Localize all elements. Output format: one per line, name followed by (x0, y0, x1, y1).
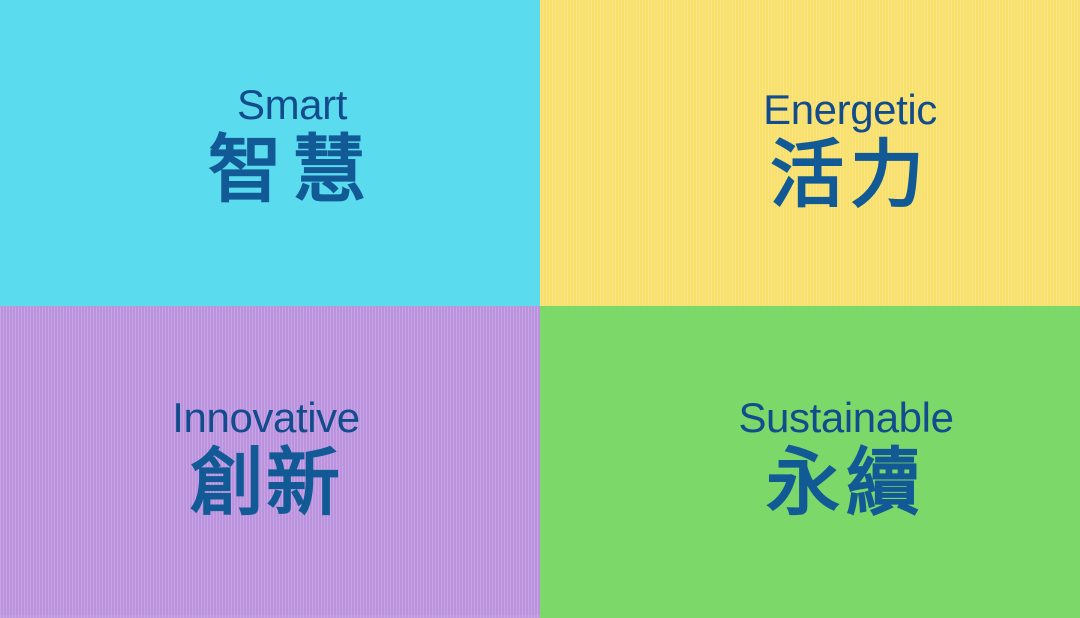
quadrant-energetic[interactable]: Energetic 活力 (540, 0, 1080, 306)
quadrant-innovative[interactable]: Innovative 創新 (0, 306, 540, 618)
label-stack-innovative: Innovative 創新 (172, 395, 359, 525)
label-english-sustainable: Sustainable (738, 395, 953, 440)
label-chinese-energetic: 活力 (770, 134, 930, 217)
label-chinese-smart: 智慧 (208, 129, 376, 212)
label-english-innovative: Innovative (172, 395, 359, 440)
brand-values-canvas: Smart 智慧 Energetic 活力 Innovative 創新 Sust… (0, 0, 1080, 618)
label-stack-smart: Smart 智慧 (208, 82, 376, 212)
label-english-energetic: Energetic (763, 87, 937, 132)
label-chinese-innovative: 創新 (190, 442, 342, 525)
label-english-smart: Smart (237, 82, 347, 127)
quadrant-grid: Smart 智慧 Energetic 活力 Innovative 創新 Sust… (0, 0, 1080, 618)
quadrant-smart[interactable]: Smart 智慧 (0, 0, 540, 306)
label-stack-sustainable: Sustainable 永續 (738, 395, 953, 525)
label-stack-energetic: Energetic 活力 (763, 87, 937, 217)
label-chinese-sustainable: 永續 (766, 442, 926, 525)
quadrant-sustainable[interactable]: Sustainable 永續 (540, 306, 1080, 618)
